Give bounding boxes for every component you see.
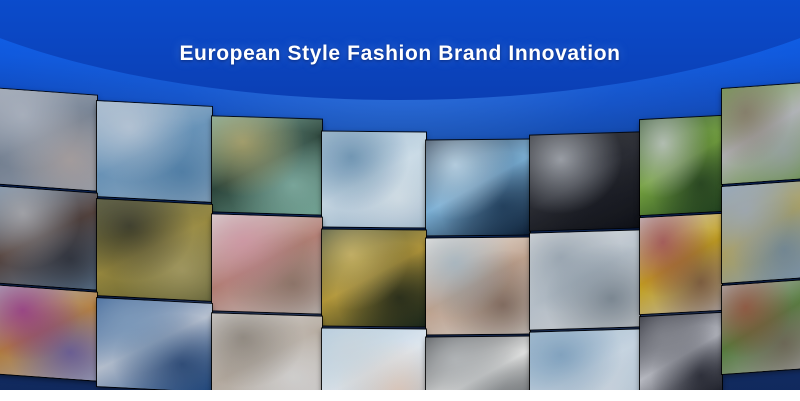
tile-edge-shade <box>0 186 97 289</box>
wall-tile-chrome-handshower-on-blue <box>97 298 212 392</box>
wall-tile-white-bathroom-with-oval-tub <box>530 230 640 329</box>
wall-tile-rain-shower-head-with-water-jets <box>426 139 530 235</box>
tile-edge-shade <box>322 229 426 326</box>
tile-edge-shade <box>640 116 722 215</box>
tile-edge-shade <box>722 280 800 374</box>
tile-edge-shade <box>212 313 322 401</box>
wall-tile-water-droplet-splash-macro <box>97 101 212 202</box>
tile-sheen <box>0 285 97 380</box>
wall-tile-man-resting-beside-basin-tap <box>426 237 530 334</box>
tile-edge-shade <box>97 101 212 202</box>
wall-tile-chrome-shower-bar-on-blue <box>322 131 426 227</box>
tile-edge-shade <box>426 237 530 334</box>
tile-sheen <box>640 313 722 401</box>
wall-tile-shower-panel-on-dark-wet-wall <box>530 132 640 230</box>
tile-edge-shade <box>426 139 530 235</box>
wall-tile-girl-with-rubber-duck-at-basin <box>640 214 722 314</box>
tile-edge-shade <box>722 181 800 283</box>
wall-tile-woman-with-towel-and-tulips <box>212 214 322 313</box>
tile-edge-shade <box>97 298 212 392</box>
wall-tile-bath-mixer-with-sponge-and-bottles <box>722 181 800 283</box>
tile-sheen <box>0 186 97 289</box>
tile-edge-shade <box>640 313 722 401</box>
wall-tile-white-handshower-on-green-foliage <box>640 116 722 215</box>
tile-sheen <box>722 280 800 374</box>
tile-sheen <box>530 132 640 230</box>
tile-sheen <box>322 131 426 227</box>
tile-edge-shade <box>640 214 722 314</box>
tile-edge-shade <box>722 83 800 184</box>
tile-sheen <box>97 298 212 392</box>
tile-sheen <box>426 237 530 334</box>
tile-sheen <box>97 199 212 301</box>
tile-edge-shade <box>530 230 640 329</box>
wall-tile-wall-mounted-chrome-bath-mixer-with-hand <box>0 88 97 190</box>
tile-edge-shade <box>0 285 97 380</box>
tile-sheen <box>722 83 800 184</box>
tile-sheen <box>97 101 212 202</box>
wall-tile-colored-handshower-range <box>0 285 97 380</box>
tile-sheen <box>530 230 640 329</box>
wall-tile-kitchen-sink-with-vegetables <box>722 280 800 374</box>
bottom-white-strip <box>0 390 800 401</box>
tile-sheen <box>212 214 322 313</box>
tile-sheen <box>322 229 426 326</box>
tile-sheen <box>722 181 800 283</box>
tile-sheen <box>640 214 722 314</box>
tile-sheen <box>212 116 322 214</box>
wall-tile-freestanding-bathtub-interior <box>212 313 322 401</box>
tile-edge-shade <box>212 214 322 313</box>
tile-edge-shade <box>530 132 640 230</box>
tile-sheen <box>212 313 322 401</box>
wall-tile-brass-fixture-macro-on-olive <box>97 199 212 301</box>
wall-tile-brass-tap-on-dark-background <box>322 229 426 326</box>
tile-edge-shade <box>0 88 97 190</box>
wall-tile-modern-bathroom-with-round-basin <box>0 186 97 289</box>
tile-sheen <box>426 139 530 235</box>
promo-banner: European Style Fashion Brand Innovation <box>0 0 800 401</box>
tile-edge-shade <box>212 116 322 214</box>
tile-sheen <box>0 88 97 190</box>
tile-sheen <box>640 116 722 215</box>
wall-tile-teal-bathroom-ambience-blur <box>212 116 322 214</box>
page-title: European Style Fashion Brand Innovation <box>0 42 800 66</box>
wall-tile-green-wall-bathroom-basin <box>722 83 800 184</box>
wall-tile-kitchen-faucet-on-black-with-lights <box>640 313 722 401</box>
tile-edge-shade <box>97 199 212 301</box>
tile-edge-shade <box>322 131 426 227</box>
